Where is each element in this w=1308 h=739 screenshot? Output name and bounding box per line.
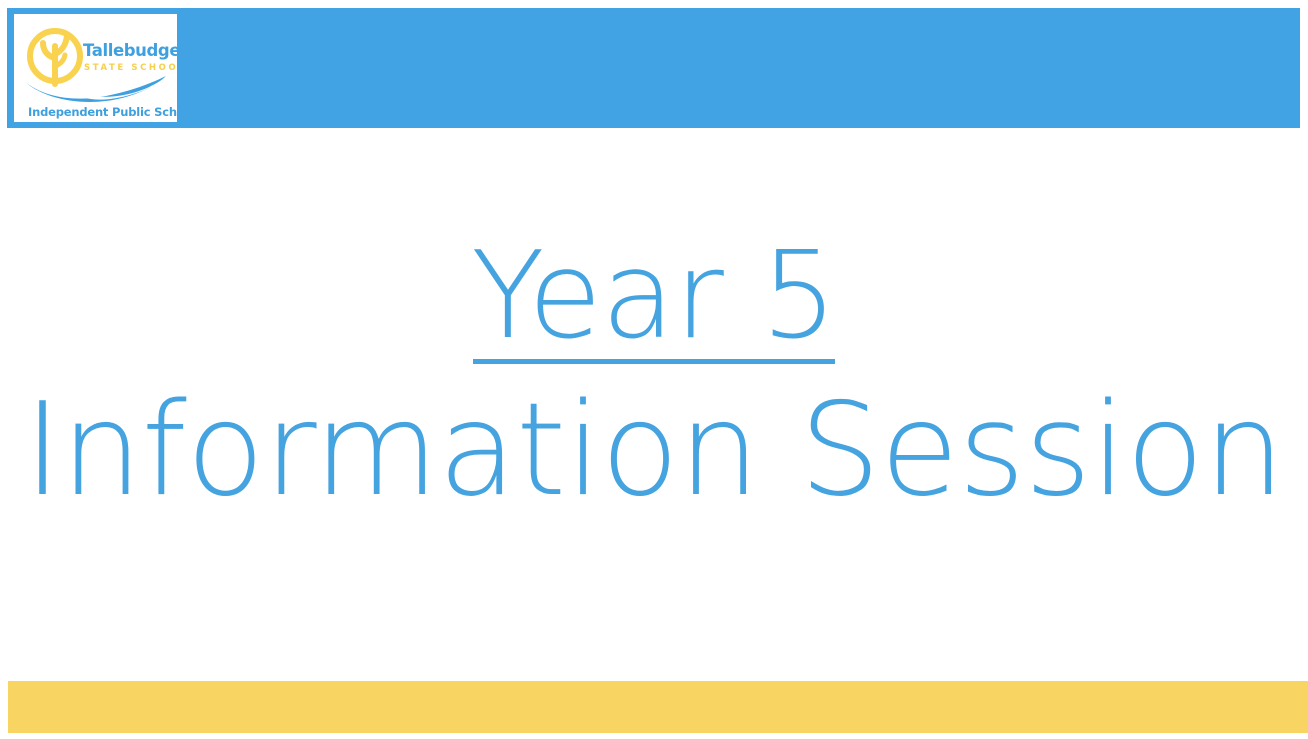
- page-title: Year 5 Information Session: [0, 236, 1308, 517]
- logo-tagline: Independent Public School: [28, 105, 177, 119]
- title-line-session: Information Session: [0, 386, 1308, 517]
- logo-school-name: Tallebudgera: [83, 41, 177, 60]
- header-banner: [7, 8, 1300, 128]
- title-line-year: Year 5: [0, 236, 1308, 364]
- school-logo: Tallebudgera STATE SCHOOL Independent Pu…: [14, 14, 177, 122]
- school-logo-graphic: Tallebudgera STATE SCHOOL Independent Pu…: [14, 14, 177, 122]
- logo-school-type: STATE SCHOOL: [84, 63, 177, 73]
- tree-in-circle-icon: [30, 31, 80, 84]
- title-line-year-text: Year 5: [471, 236, 837, 364]
- slide: Tallebudgera STATE SCHOOL Independent Pu…: [0, 0, 1308, 739]
- footer-banner: [8, 681, 1308, 733]
